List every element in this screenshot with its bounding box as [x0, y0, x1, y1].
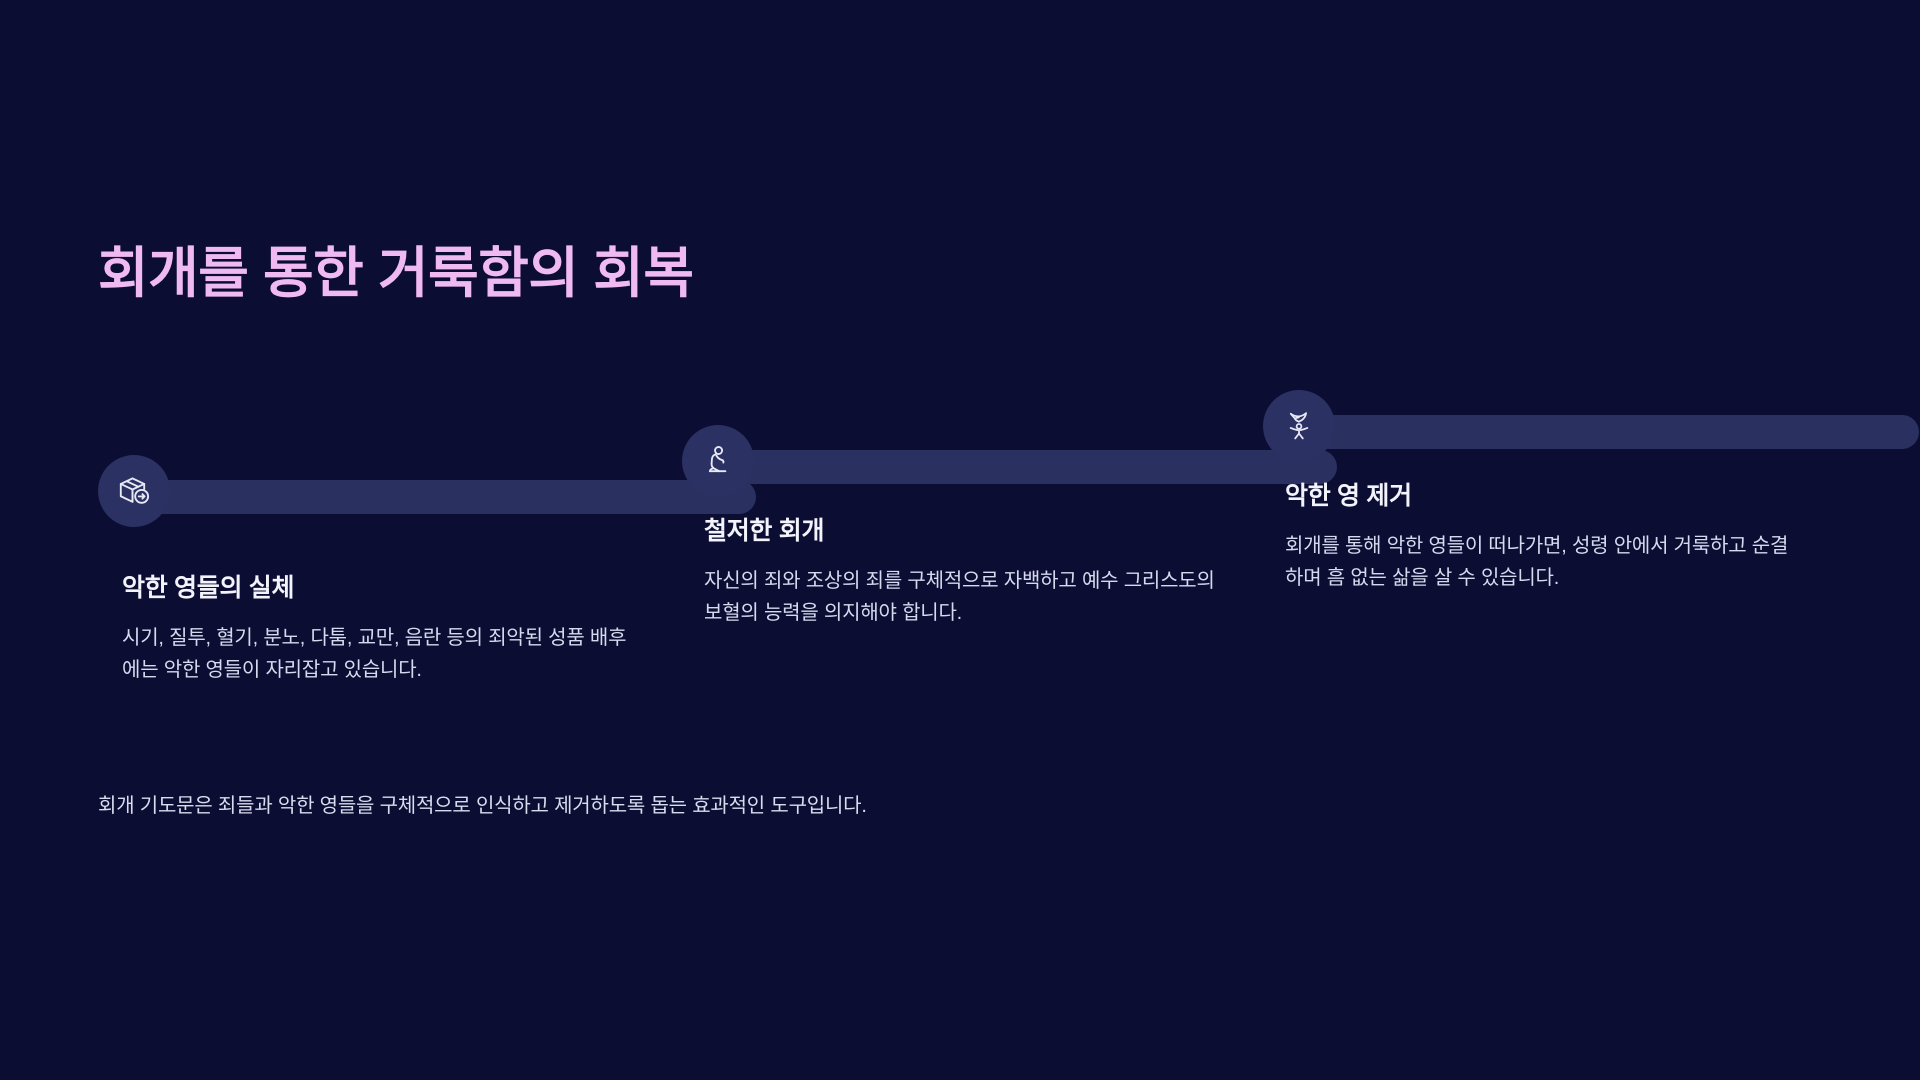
kneeling-prayer-icon	[701, 444, 735, 478]
freedom-dove-person-icon	[1282, 409, 1316, 443]
step-bar-3	[1311, 415, 1919, 449]
step-icon-puck-3[interactable]	[1263, 390, 1335, 462]
step-description-2: 자신의 죄와 조상의 죄를 구체적으로 자백하고 예수 그리스도의 보혈의 능력…	[704, 565, 1222, 630]
package-export-icon	[116, 473, 152, 509]
step-progression: 악한 영들의 실체 시기, 질투, 혈기, 분노, 다툼, 교만, 음란 등의 …	[0, 0, 1920, 1080]
step-icon-puck-1[interactable]	[98, 455, 170, 527]
slide-canvas: 회개를 통한 거룩함의 회복 악한 영들의 실체 시	[0, 0, 1920, 1080]
step-bar-1	[146, 480, 756, 514]
step-title-3: 악한 영 제거	[1285, 480, 1805, 513]
step-icon-puck-2[interactable]	[682, 425, 754, 497]
step-description-3: 회개를 통해 악한 영들이 떠나가면, 성령 안에서 거룩하고 순결하며 흠 없…	[1285, 530, 1805, 595]
footnote-text: 회개 기도문은 죄들과 악한 영들을 구체적으로 인식하고 제거하도록 돕는 효…	[98, 791, 867, 821]
step-title-1: 악한 영들의 실체	[122, 572, 642, 605]
step-body-1: 악한 영들의 실체 시기, 질투, 혈기, 분노, 다툼, 교만, 음란 등의 …	[122, 572, 642, 686]
step-body-3: 악한 영 제거 회개를 통해 악한 영들이 떠나가면, 성령 안에서 거룩하고 …	[1285, 480, 1805, 594]
step-body-2: 철저한 회개 자신의 죄와 조상의 죄를 구체적으로 자백하고 예수 그리스도의…	[704, 515, 1222, 629]
step-bar-2	[730, 450, 1337, 484]
step-title-2: 철저한 회개	[704, 515, 1222, 548]
step-description-1: 시기, 질투, 혈기, 분노, 다툼, 교만, 음란 등의 죄악된 성품 배후에…	[122, 622, 642, 687]
